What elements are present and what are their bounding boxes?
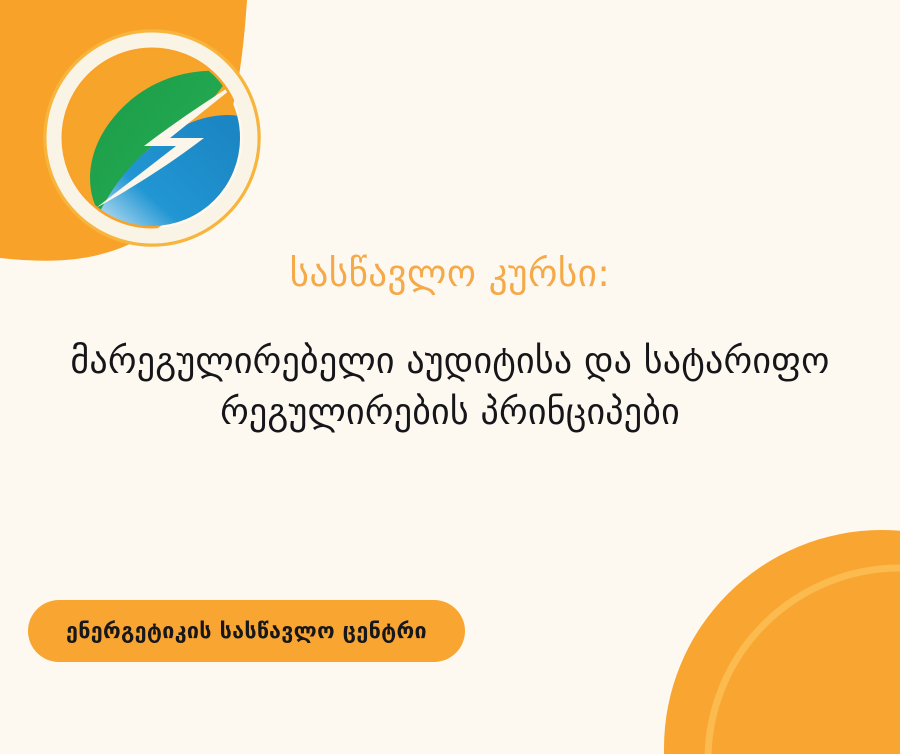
bottom-right-orange-circle-shape [664, 530, 900, 754]
page-title-line-2: რეგულირების პრინციპები [60, 387, 840, 438]
poster-canvas: სასწავლო კურსი: მარეგულირებელი აუდიტისა … [0, 0, 900, 754]
bottom-right-inner-ring-shape [708, 568, 900, 754]
poster-text-block: სასწავლო კურსი: მარეგულირებელი აუდიტისა … [0, 252, 900, 438]
brand-logo [36, 22, 268, 254]
course-label: სასწავლო კურსი: [0, 252, 900, 296]
page-title-line-1: მარეგულირებელი აუდიტისა და სატარიფო [60, 336, 840, 387]
energy-training-center-logo-icon [36, 22, 268, 254]
page-title: მარეგულირებელი აუდიტისა და სატარიფო რეგუ… [0, 336, 900, 438]
organization-badge[interactable]: ენერგეტიკის სასწავლო ცენტრი [28, 600, 465, 662]
